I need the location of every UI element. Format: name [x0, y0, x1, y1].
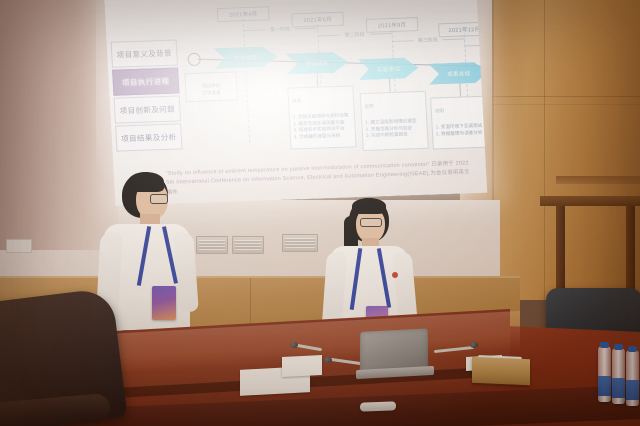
water-bottle-2[interactable] — [612, 348, 625, 404]
bottle-cap-3 — [628, 346, 637, 352]
timeline-detail-0: 说明 1. 完成文献调研与资料收集 2. 确定无源互调测量方案 3. 搭建初步实… — [287, 85, 356, 149]
phase-label-3: 成果总结 — [447, 69, 471, 78]
slide-sidebar-nav: 项目意义及背景 项目执行进程 项目创新及问题 项目结果及分析 — [111, 39, 183, 153]
tissue-box — [472, 357, 530, 386]
slide-nav-label-3: 项目结果及分析 — [121, 131, 177, 144]
light-switch-plate[interactable] — [6, 239, 32, 253]
presenter-left-hair-front — [128, 172, 164, 192]
detail-title-1: 说明 — [364, 102, 422, 111]
bottle-label-3 — [626, 380, 639, 400]
timeline-detail-2: 说明 1. 变温环境下互调测试 2. 数据整理与误差分析 — [430, 95, 487, 149]
detail-text-1: 1. 建立温度影响理论模型 2. 开展仿真分析与验证 3. 完成中期检查报告 — [365, 118, 416, 139]
date-label-3: 2021年12月 — [448, 25, 480, 34]
microphone-head-left — [290, 342, 298, 348]
wall-vent-right — [282, 234, 318, 252]
guide-line-0 — [243, 19, 251, 143]
timeline-start-note: 项目申报 立项准备 — [184, 71, 238, 101]
phase-label-0: 项目立项 — [234, 53, 258, 62]
detail-connector-2 — [459, 83, 461, 97]
detail-connector-1 — [389, 78, 391, 92]
wall-shelf — [540, 196, 640, 206]
detail-text-2: 1. 变温环境下互调测试 2. 数据整理与误差分析 — [436, 123, 483, 136]
shelf-leg-right — [626, 206, 635, 292]
shelf-leg-left — [556, 206, 565, 292]
timeline-detail-1: 说明 1. 建立温度影响理论模型 2. 开展仿真分析与验证 3. 完成中期检查报… — [360, 91, 429, 151]
slide-caption: “Study on influence of ambient temperatu… — [166, 159, 475, 198]
start-note-text: 项目申报 立项准备 — [202, 83, 221, 96]
detail-title-0: 说明 — [292, 96, 350, 105]
bottle-label-1 — [598, 376, 611, 396]
timeline-diagram: 2021年4月 2021年6月 2021年9月 2021年12月 2022年3月 — [178, 0, 483, 155]
detail-title-2: 说明 — [435, 106, 488, 115]
presenter-right-shirt-logo — [392, 272, 398, 278]
presenter-remote[interactable] — [360, 401, 396, 411]
duration-label-0: 第一阶段 — [270, 25, 290, 33]
microphone-head-mid — [324, 357, 332, 363]
date-label-2: 2021年9月 — [378, 20, 407, 29]
bottle-cap-2 — [614, 344, 623, 350]
wall-rail — [556, 176, 640, 184]
water-bottle-1[interactable] — [598, 346, 611, 402]
paper-sheet-mid — [282, 355, 322, 377]
conference-room-photo: 项目意义及背景 项目执行进程 项目创新及问题 项目结果及分析 2021年4月 — [0, 0, 640, 426]
presenter-left-badge — [152, 286, 176, 320]
wood-wall-panel — [492, 0, 640, 300]
presenter-right-glasses — [360, 218, 382, 227]
detail-connector-0 — [317, 73, 319, 87]
duration-label-1: 第二阶段 — [344, 30, 364, 38]
slide-nav-item-0[interactable]: 项目意义及背景 — [111, 39, 178, 67]
bottle-label-2 — [612, 378, 625, 398]
duration-label-2: 第三阶段 — [418, 36, 438, 44]
timeline-phase-0[interactable]: 项目立项 — [213, 46, 278, 69]
projection-screen: 项目意义及背景 项目执行进程 项目创新及问题 项目结果及分析 2021年4月 — [104, 0, 487, 206]
date-label-0: 2021年4月 — [229, 10, 258, 19]
timeline-duration-1: 第二阶段 — [317, 29, 391, 40]
timeline-phase-1[interactable]: 理论研究 — [285, 52, 348, 75]
slide-nav-item-3[interactable]: 项目结果及分析 — [115, 123, 182, 151]
phase-label-2: 实验测试 — [377, 64, 401, 73]
slide-nav-item-2[interactable]: 项目创新及问题 — [114, 95, 181, 123]
slide-nav-label-0: 项目意义及背景 — [116, 47, 172, 60]
slide-nav-label-2: 项目创新及问题 — [119, 103, 175, 116]
timeline-duration-2: 第三阶段 — [392, 34, 464, 45]
presenter-right-bangs — [352, 198, 386, 214]
timeline-phase-2[interactable]: 实验测试 — [358, 57, 419, 80]
date-label-1: 2021年6月 — [303, 15, 332, 24]
bottle-cap-1 — [600, 342, 609, 348]
microphone-head-right — [470, 342, 478, 348]
phase-label-1: 理论研究 — [305, 59, 329, 68]
timeline-duration-0: 第一阶段 — [243, 24, 317, 35]
presenter-left-glasses — [150, 194, 168, 204]
detail-text-0: 1. 完成文献调研与资料收集 2. 确定无源互调测量方案 3. 搭建初步实验测试… — [293, 112, 349, 140]
wall-vent-mid — [232, 236, 264, 254]
slide-nav-item-1[interactable]: 项目执行进程 — [112, 67, 179, 95]
slide-nav-label-1: 项目执行进程 — [122, 75, 170, 88]
water-bottle-3[interactable] — [626, 350, 639, 406]
left-wall — [0, 0, 118, 250]
wall-vent-left — [196, 236, 228, 254]
